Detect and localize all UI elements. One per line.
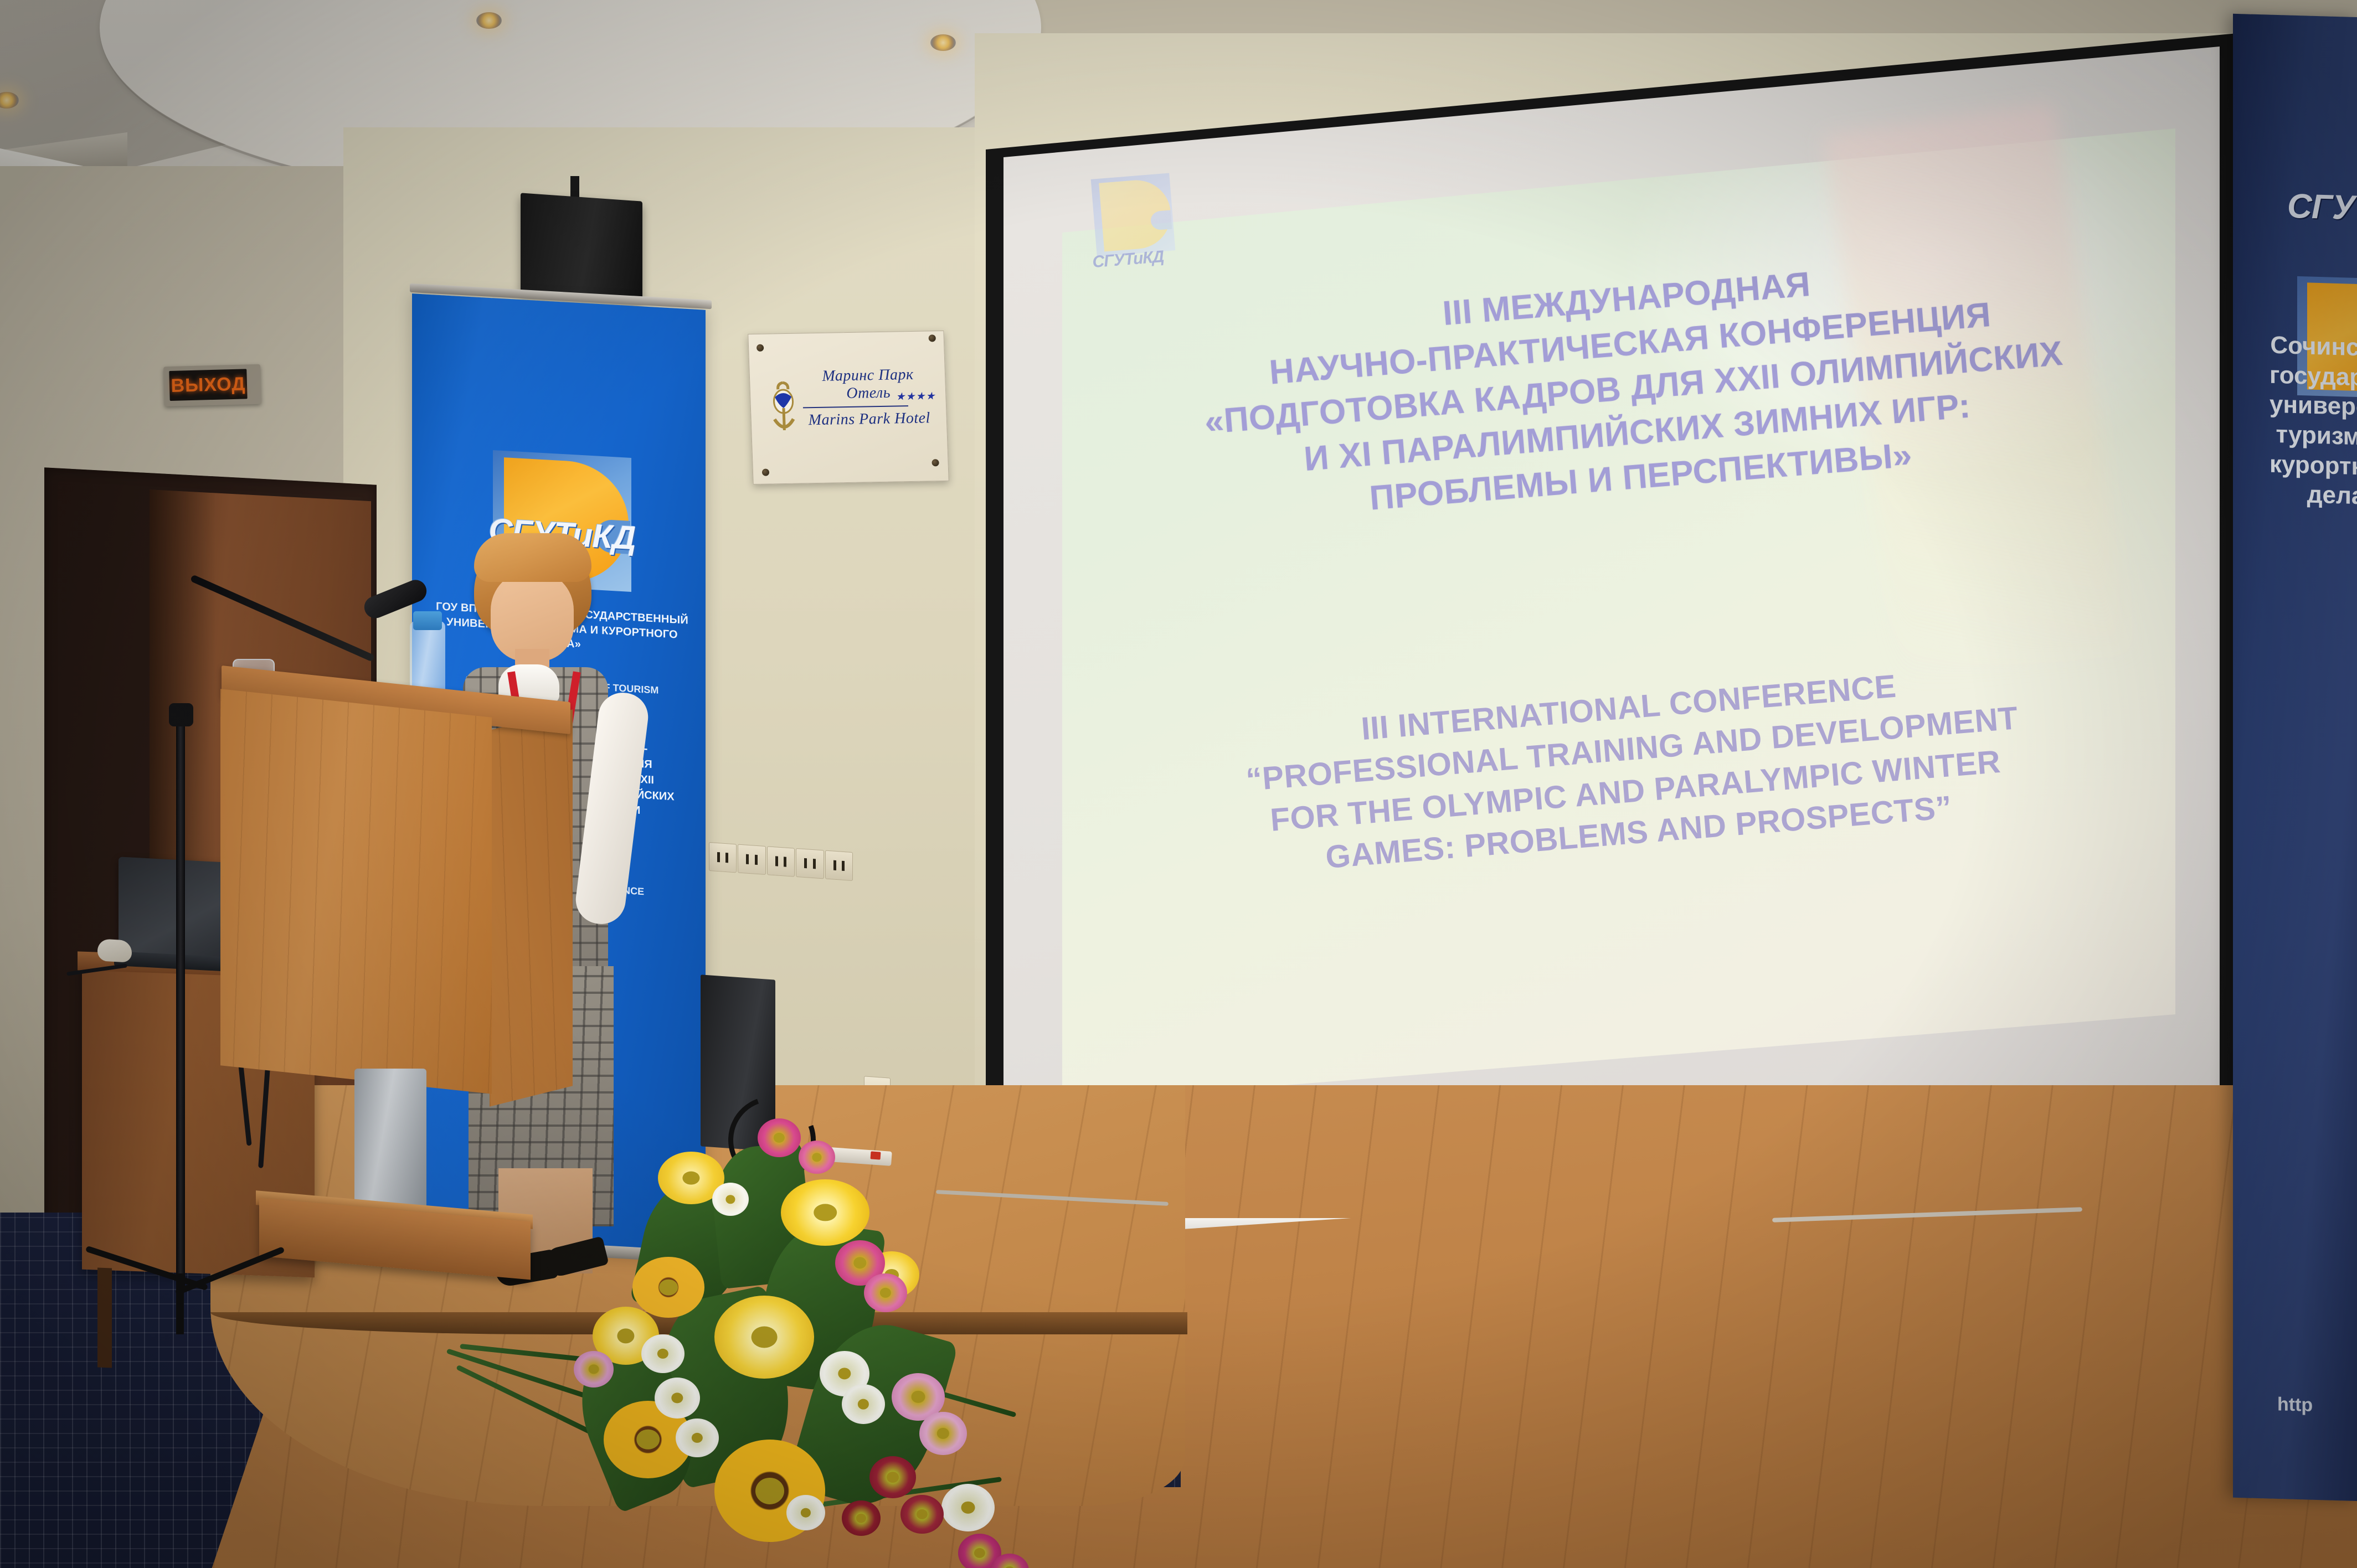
screw-icon	[928, 334, 935, 342]
burgundy-flower	[842, 1500, 881, 1536]
burgundy-flower	[869, 1456, 916, 1498]
slide-sgutikd-logo-icon	[1091, 173, 1176, 257]
white-flower	[712, 1183, 749, 1216]
side-table-leg	[97, 1268, 112, 1368]
conference-photo-scene: ВЫХОД Маринс Парк Отель Marins Park Hote…	[0, 0, 2357, 1568]
burgundy-flower	[900, 1495, 944, 1534]
anchor-logo-icon	[770, 379, 797, 439]
wall-speaker	[521, 193, 642, 301]
yellow-flower	[714, 1296, 814, 1379]
pink-flower	[799, 1141, 835, 1174]
mic-tripod-leg	[176, 1273, 184, 1334]
wall-outlet[interactable]	[796, 848, 824, 879]
hotel-plaque: Маринс Парк Отель Marins Park Hotel ★★★★	[748, 331, 949, 484]
banner-right-wordmark: СГУТиКД	[2287, 187, 2357, 229]
pink-flower	[758, 1118, 801, 1157]
microphone-stand-pole	[176, 714, 185, 1290]
banner-right-org-text: Сочинский государственный университет ту…	[2269, 331, 2357, 513]
flower-arrangement	[454, 1113, 1052, 1556]
speaker-face	[491, 570, 574, 662]
pink-flower	[574, 1351, 614, 1388]
exit-sign-face: ВЫХОД	[169, 369, 247, 401]
banner-right-url: http	[2277, 1394, 2357, 1419]
microphone-boom-joint[interactable]	[169, 703, 193, 726]
banner-right	[2233, 14, 2357, 1501]
pink-flower	[919, 1412, 967, 1455]
podium-front-panel	[220, 689, 492, 1094]
white-flower	[842, 1384, 885, 1424]
wall-outlet[interactable]	[767, 846, 795, 877]
exit-sign: ВЫХОД	[163, 364, 261, 407]
plaque-line-english: Marins Park Hotel	[800, 409, 939, 429]
white-flower	[676, 1419, 719, 1457]
wall-outlet[interactable]	[825, 850, 853, 881]
white-flower	[786, 1495, 825, 1530]
white-flower	[941, 1484, 995, 1531]
screw-icon	[762, 469, 769, 476]
screw-icon	[756, 344, 764, 352]
computer-mouse[interactable]	[97, 938, 132, 962]
podium-side-panel	[490, 709, 573, 1106]
plaque-divider	[803, 405, 908, 408]
sunflower	[632, 1257, 704, 1318]
wall-outlet[interactable]	[738, 844, 765, 875]
white-flower	[641, 1334, 685, 1373]
ceiling-spotlight-icon	[930, 34, 956, 51]
plaque-star-rating: ★★★★	[896, 390, 936, 403]
exit-sign-label: ВЫХОД	[171, 373, 246, 397]
ceiling-spotlight-icon	[476, 12, 502, 29]
speaker-bangs	[474, 533, 591, 582]
white-flower	[655, 1378, 700, 1419]
screw-icon	[932, 459, 939, 466]
plaque-text-block: Маринс Парк Отель Marins Park Hotel ★★★★	[798, 365, 939, 429]
wall-outlet[interactable]	[709, 842, 737, 873]
yellow-flower	[781, 1179, 869, 1246]
pink-flower	[864, 1273, 907, 1312]
